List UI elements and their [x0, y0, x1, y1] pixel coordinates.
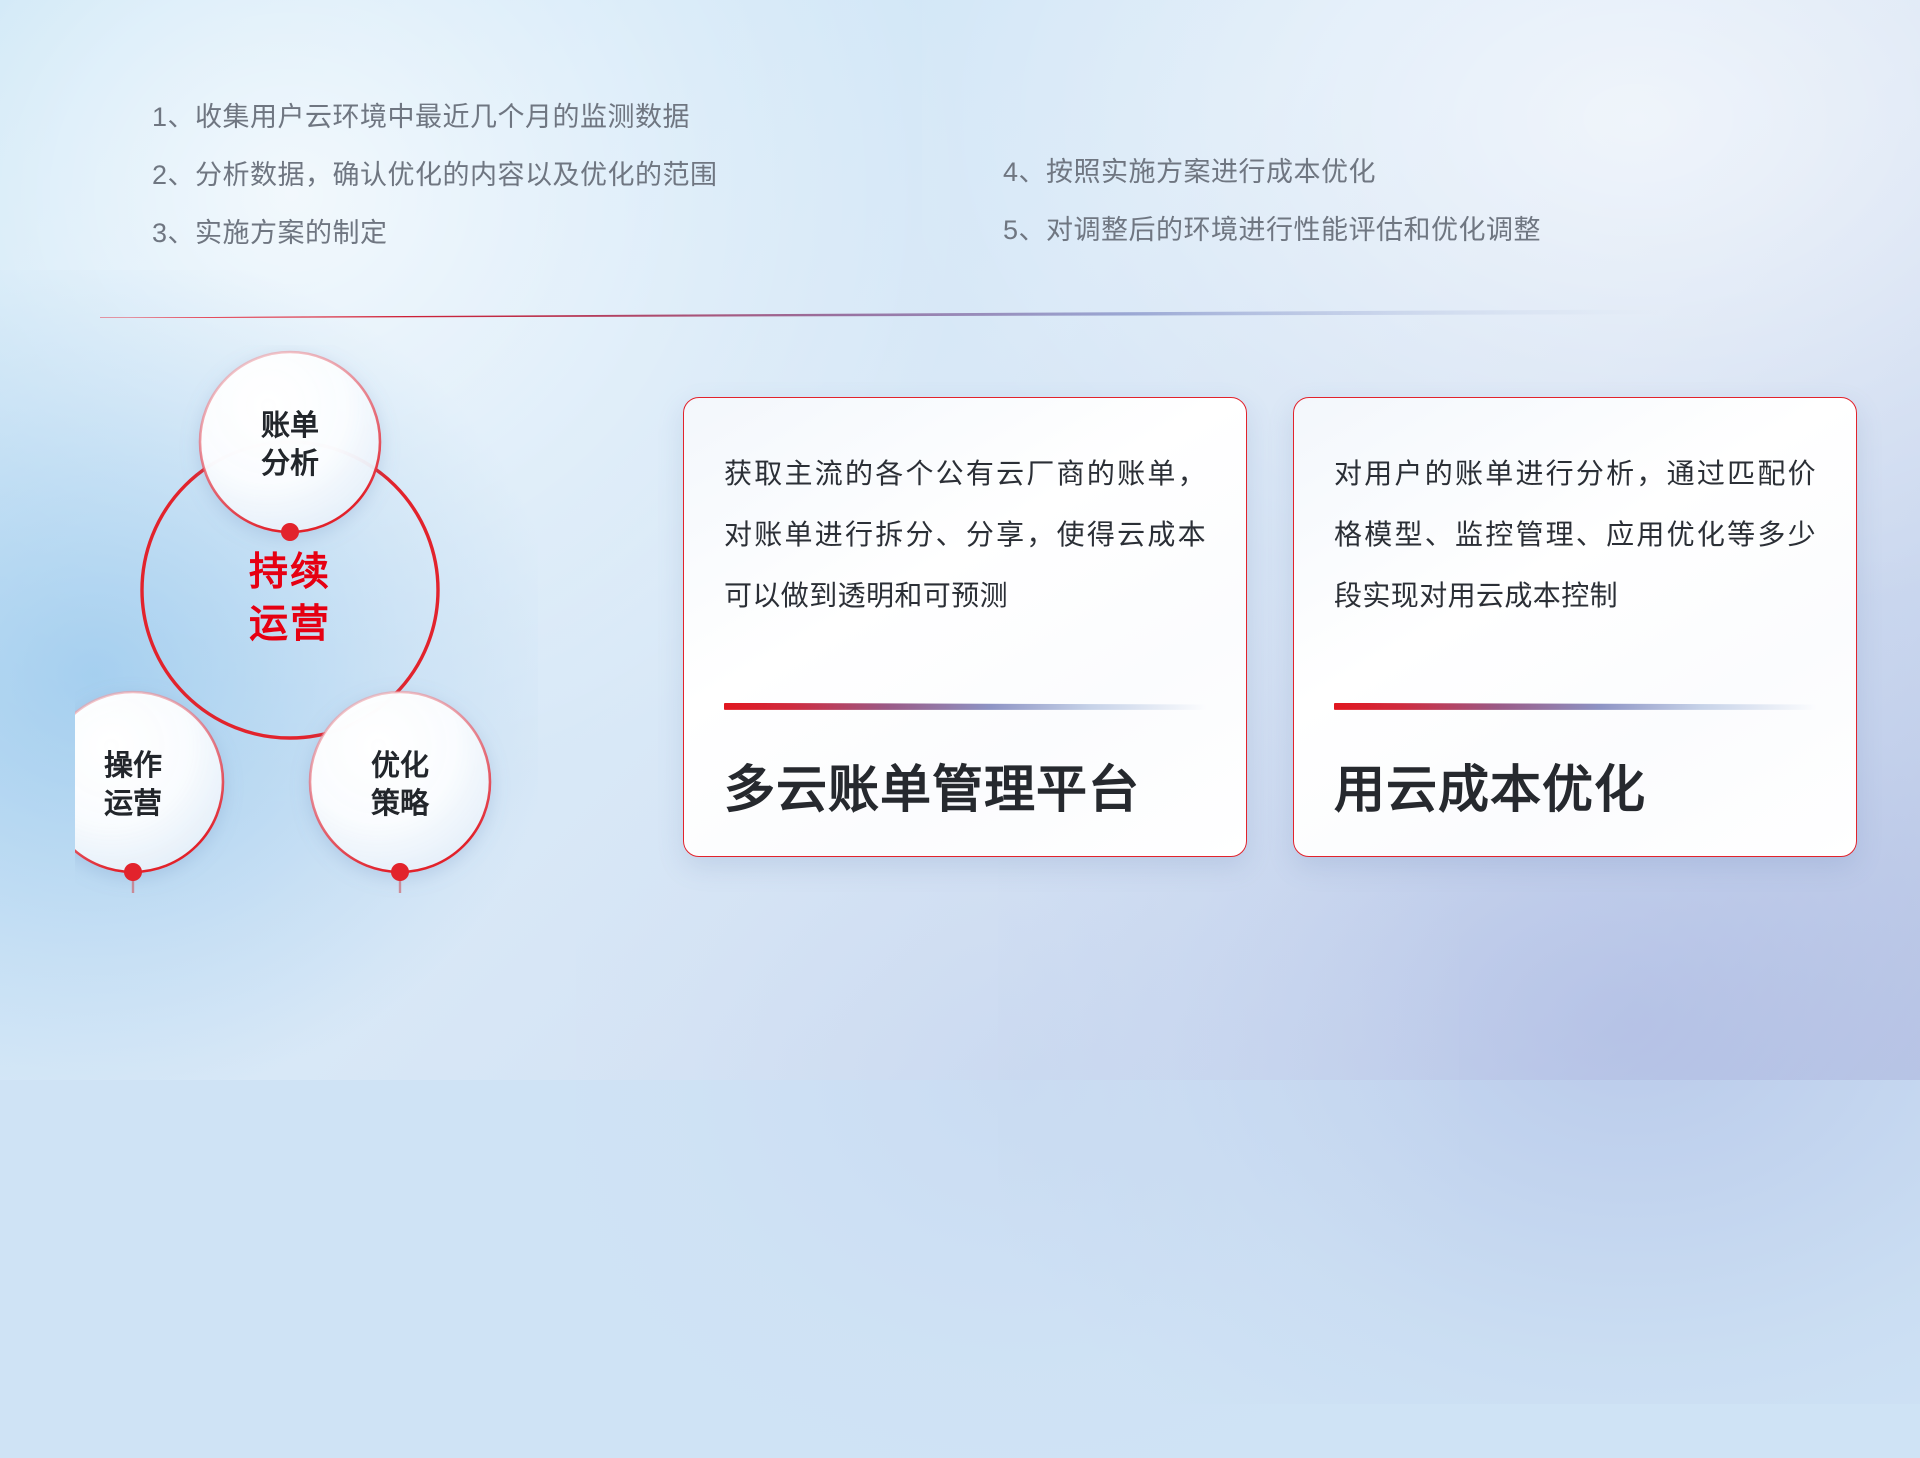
info-card-cloud-cost-optimization[interactable]: 对用户的账单进行分析，通过匹配价格模型、监控管理、应用优化等多少段实现对用云成本…	[1293, 397, 1857, 857]
info-card-multi-cloud-billing-platform[interactable]: 获取主流的各个公有云厂商的账单，对账单进行拆分、分享，使得云成本可以做到透明和可…	[683, 397, 1247, 857]
card-divider	[724, 703, 1206, 710]
node-label-operations-line2: 运营	[104, 787, 162, 820]
connector-dot-bottom-left	[124, 863, 142, 881]
node-label-billing-analysis-line2: 分析	[261, 447, 319, 480]
node-label-operations-line1: 操作	[104, 749, 162, 782]
step-item-1: 1、收集用户云环境中最近几个月的监测数据	[152, 102, 718, 133]
steps-left-column: 1、收集用户云环境中最近几个月的监测数据 2、分析数据，确认优化的内容以及优化的…	[152, 102, 718, 276]
steps-right-column: 4、按照实施方案进行成本优化 5、对调整后的环境进行性能评估和优化调整	[1003, 157, 1541, 273]
card-divider	[1334, 703, 1816, 710]
diagram-node-billing-analysis[interactable]: 账单 分析	[200, 352, 380, 532]
step-item-3: 3、实施方案的制定	[152, 218, 718, 249]
diagram-node-operations[interactable]: 操作 运营	[75, 692, 223, 872]
node-label-billing-analysis-line1: 账单	[261, 409, 319, 442]
card-title-text: 多云账单管理平台	[724, 762, 1206, 818]
section-divider	[100, 305, 1660, 314]
diagram-node-optimization-strategy[interactable]: 优化 策略	[310, 692, 490, 872]
continuous-operations-diagram: 账单 分析 操作 运营 优化 策略 持续 运营	[75, 345, 635, 945]
connector-dot-top	[281, 523, 299, 541]
step-item-2: 2、分析数据，确认优化的内容以及优化的范围	[152, 160, 718, 191]
diagram-center-label-line2: 运营	[249, 603, 331, 646]
connector-dot-bottom-right	[391, 863, 409, 881]
node-label-optimization-strategy-line2: 策略	[371, 786, 430, 820]
card-body-text: 获取主流的各个公有云厂商的账单，对账单进行拆分、分享，使得云成本可以做到透明和可…	[724, 444, 1206, 626]
step-item-5: 5、对调整后的环境进行性能评估和优化调整	[1003, 215, 1541, 246]
diagram-center-label-line1: 持续	[249, 551, 331, 594]
card-title-text: 用云成本优化	[1334, 762, 1816, 818]
node-label-optimization-strategy-line1: 优化	[371, 749, 429, 782]
step-item-4: 4、按照实施方案进行成本优化	[1003, 157, 1541, 188]
card-body-text: 对用户的账单进行分析，通过匹配价格模型、监控管理、应用优化等多少段实现对用云成本…	[1334, 444, 1816, 626]
